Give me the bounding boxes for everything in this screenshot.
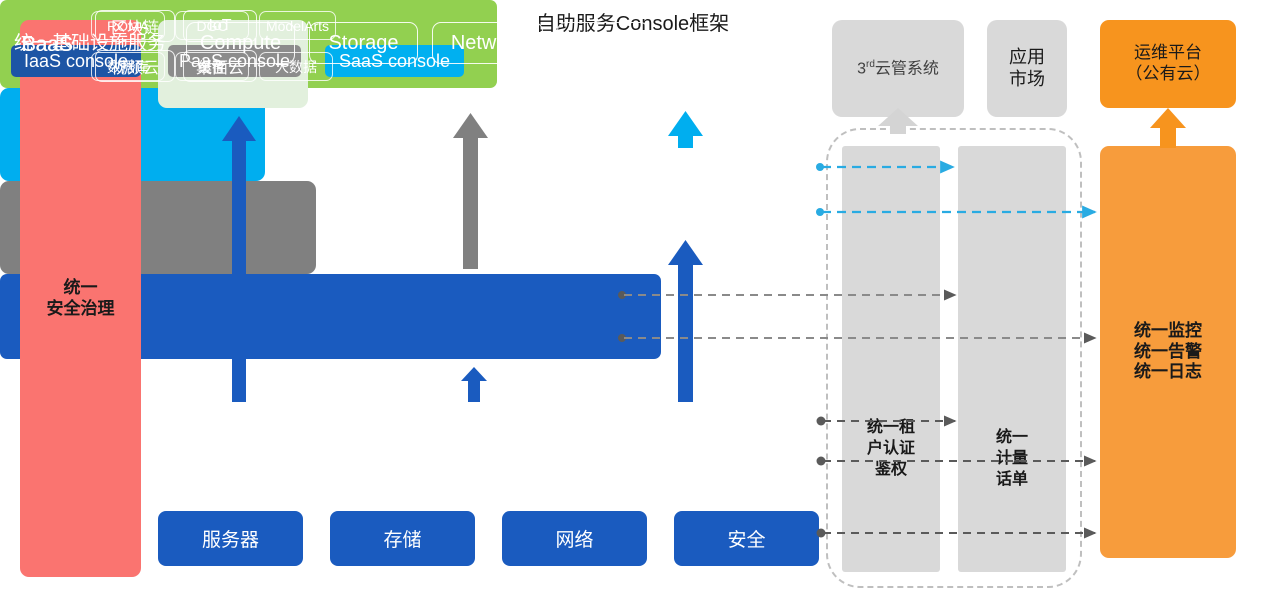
arrow-infra-to-paas xyxy=(461,367,487,402)
arrow-infra-to-saas xyxy=(668,240,703,402)
unified-security-governance-label: 统一 安全治理 xyxy=(47,278,115,319)
infra-chip-cce[interactable]: CCE xyxy=(557,22,649,64)
arrow-paas-to-console xyxy=(453,113,488,269)
resource-box-storage[interactable]: 存储 xyxy=(330,511,475,566)
infra-chip-network[interactable]: Network xyxy=(432,22,543,64)
third-party-cloud-management-label: 3rd云管系统 xyxy=(857,59,939,79)
infra-chip-network-label: Network xyxy=(451,32,524,55)
resource-box-security[interactable]: 安全 xyxy=(674,511,819,566)
unified-tenant-auth-column[interactable]: 统一租 户认证 鉴权 xyxy=(842,146,940,572)
ops-platform-public-cloud-box[interactable]: 运维平台 （公有云） xyxy=(1100,20,1236,108)
app-market-box[interactable]: 应用 市场 xyxy=(987,20,1067,117)
arrow-saas-to-console xyxy=(668,111,703,148)
unified-infrastructure-title: 统一基础设施服务 xyxy=(14,28,166,55)
resource-box-security-label: 安全 xyxy=(727,525,765,552)
unified-metering-billing-column[interactable]: 统一 计量 话单 xyxy=(958,146,1066,572)
ordinal-superscript: rd xyxy=(866,59,875,70)
architecture-diagram: 统一 安全治理 API网关 自助服务Console框架 IaaS console… xyxy=(0,0,1265,605)
ops-platform-public-cloud-label: 运维平台 （公有云） xyxy=(1126,43,1211,84)
unified-tenant-auth-label: 统一租 户认证 鉴权 xyxy=(842,418,940,480)
resource-box-server-label: 服务器 xyxy=(202,525,259,552)
third-party-cloud-management-box[interactable]: 3rd云管系统 xyxy=(832,20,964,117)
resource-box-server[interactable]: 服务器 xyxy=(158,511,303,566)
paas-chip-database-label: 数据库 xyxy=(107,57,149,77)
resource-box-network-label: 网络 xyxy=(555,525,593,552)
infra-chip-compute[interactable]: Compute xyxy=(186,22,295,64)
paas-chip-database[interactable]: 数据库 xyxy=(91,52,165,81)
resource-box-storage-label: 存储 xyxy=(383,525,421,552)
infra-chip-cce-label: CCE xyxy=(582,32,624,55)
app-market-label: 应用 市场 xyxy=(1009,47,1045,91)
unified-monitoring-label: 统一监控 统一告警 统一日志 xyxy=(1134,321,1202,383)
infra-chip-storage-label: Storage xyxy=(328,32,398,55)
infra-chip-compute-label: Compute xyxy=(200,32,281,55)
unified-monitoring-column[interactable]: 统一监控 统一告警 统一日志 xyxy=(1100,146,1236,558)
unified-security-governance-panel[interactable]: 统一 安全治理 xyxy=(20,20,141,577)
resource-box-network[interactable]: 网络 xyxy=(502,511,647,566)
infra-chip-storage[interactable]: Storage xyxy=(309,22,418,64)
unified-metering-billing-label: 统一 计量 话单 xyxy=(958,428,1066,490)
arrow-ops-column-to-ops-top xyxy=(1150,108,1186,148)
